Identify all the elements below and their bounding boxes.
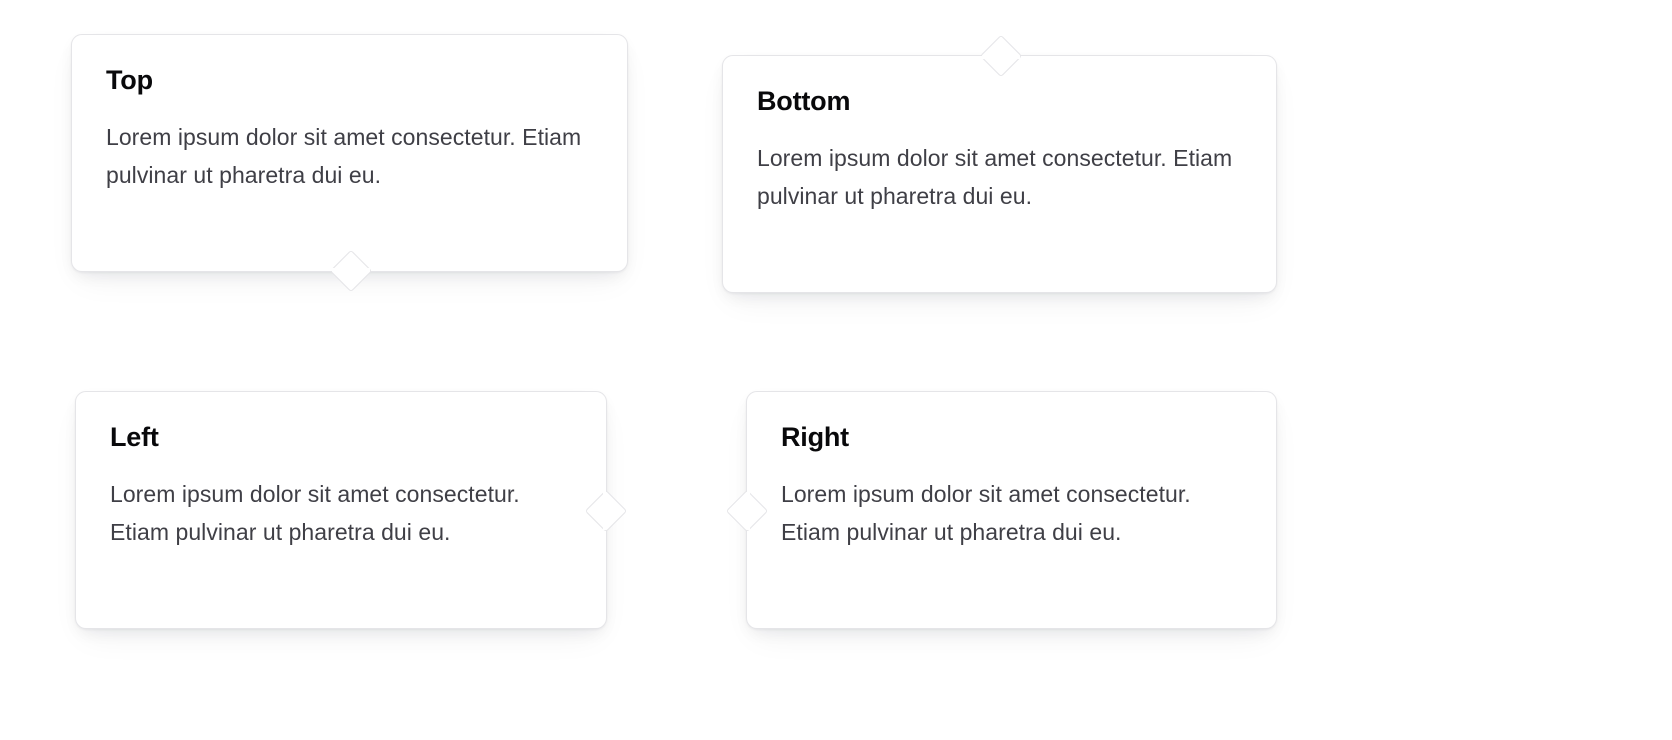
arrow-mask-left: [603, 490, 606, 530]
arrow-mask-bottom: [980, 56, 1020, 59]
arrow-mask-top: [330, 268, 370, 271]
tooltip-title-top: Top: [106, 65, 593, 96]
tooltip-title-right: Right: [781, 422, 1242, 453]
tooltip-card-bottom: Bottom Lorem ipsum dolor sit amet consec…: [722, 55, 1277, 293]
arrow-right-icon: [585, 490, 627, 532]
arrow-mask-right: [747, 490, 750, 530]
tooltip-body-right: Lorem ipsum dolor sit amet consectetur. …: [781, 475, 1242, 551]
tooltip-body-left: Lorem ipsum dolor sit amet consectetur. …: [110, 475, 572, 551]
tooltip-card-top: Top Lorem ipsum dolor sit amet consectet…: [71, 34, 628, 272]
tooltip-title-left: Left: [110, 422, 572, 453]
tooltip-body-top: Lorem ipsum dolor sit amet consectetur. …: [106, 118, 593, 194]
tooltip-stage: Top Lorem ipsum dolor sit amet consectet…: [0, 0, 1672, 740]
arrow-down-icon: [329, 250, 371, 292]
tooltip-title-bottom: Bottom: [757, 86, 1242, 117]
tooltip-body-bottom: Lorem ipsum dolor sit amet consectetur. …: [757, 139, 1242, 215]
tooltip-card-left: Left Lorem ipsum dolor sit amet consecte…: [75, 391, 607, 629]
tooltip-card-right: Right Lorem ipsum dolor sit amet consect…: [746, 391, 1277, 629]
